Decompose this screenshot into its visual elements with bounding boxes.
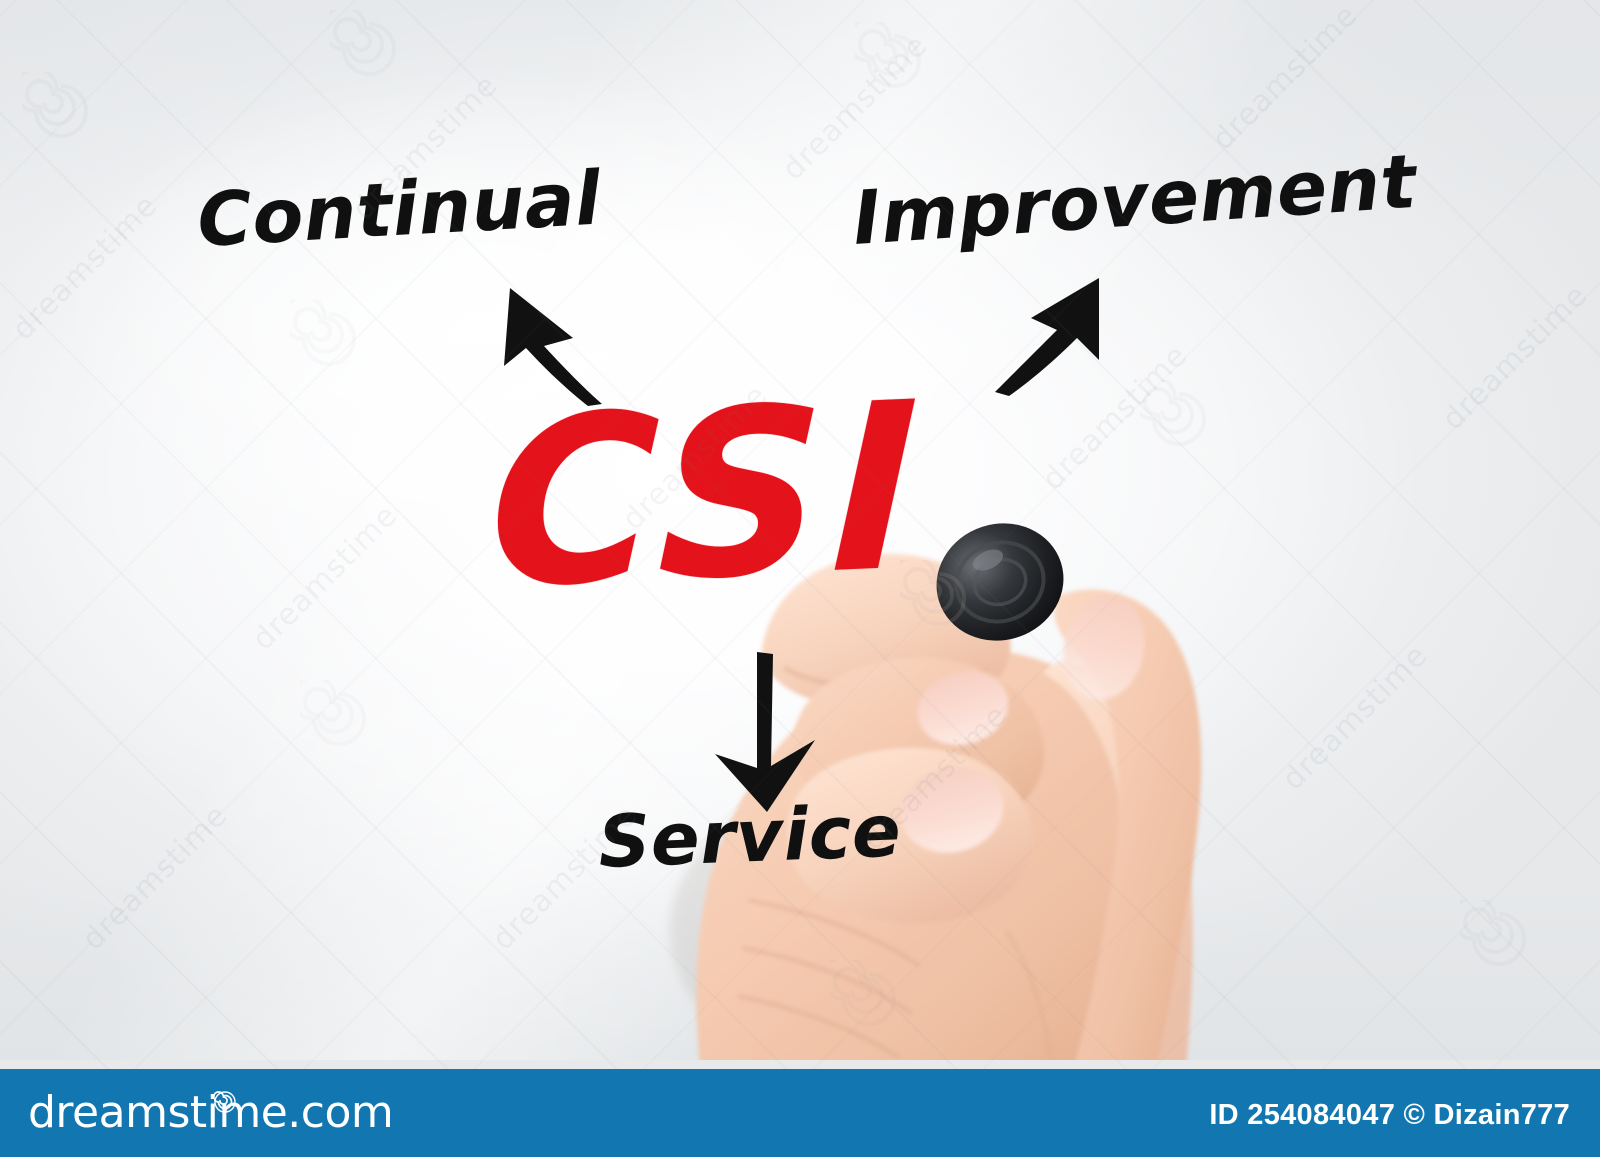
spiral-registered-icon [214,1075,236,1097]
arrow-down-icon [705,648,825,816]
image-credit: ID 254084047 © Dizain777 [1209,1099,1570,1132]
dreamstime-logo-text: dreamstime.com [28,1087,393,1138]
screenshot-root: Continual Improvement CSI Service dreams… [0,0,1600,1157]
acronym-csi: CSI [487,373,928,622]
whiteboard-photo: Continual Improvement CSI Service dreams… [0,0,1600,1069]
label-service: Service [597,788,903,884]
arrow-up-right-icon [975,272,1135,397]
footer-bar: dreamstime.com ID 254084047 © Dizain777 [0,1069,1600,1157]
dreamstime-logo[interactable]: dreamstime.com [28,1089,393,1137]
footer-top-strip [0,1060,1600,1069]
